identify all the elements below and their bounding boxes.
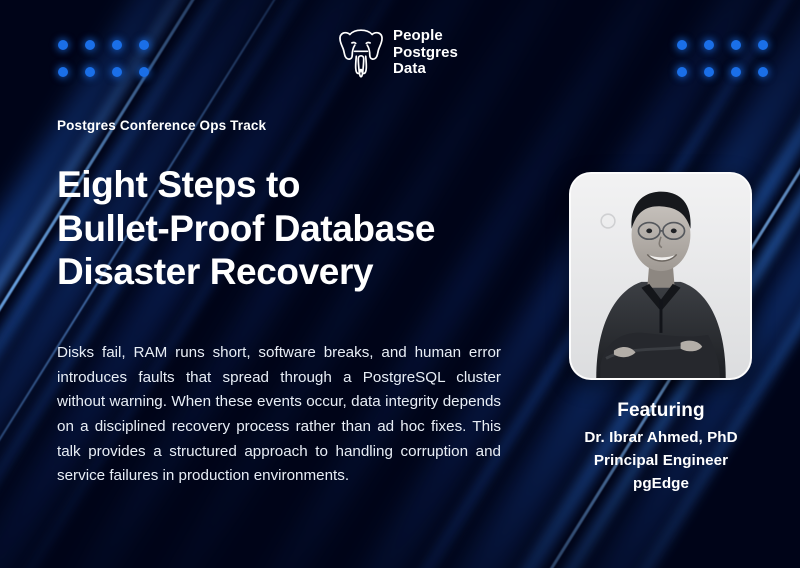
title-line-2: Bullet-Proof Database: [57, 207, 527, 251]
dot-icon: [758, 40, 768, 50]
brand-logo: People Postgres Data: [338, 26, 458, 80]
brand-line-2: Postgres: [393, 45, 458, 62]
dot-icon: [112, 40, 122, 50]
brand-logo-text: People Postgres Data: [393, 28, 458, 78]
dot-icon: [112, 67, 122, 77]
speaker-details: Featuring Dr. Ibrar Ahmed, PhD Principal…: [556, 400, 766, 495]
dot-grid-right: [677, 40, 768, 77]
dot-grid-left: [58, 40, 149, 77]
track-kicker: Postgres Conference Ops Track: [57, 118, 266, 133]
speaker-role: Principal Engineer: [556, 449, 766, 472]
title-line-3: Disaster Recovery: [57, 250, 527, 294]
dot-icon: [85, 40, 95, 50]
dot-icon: [139, 40, 149, 50]
dot-icon: [731, 40, 741, 50]
brand-line-1: People: [393, 28, 458, 45]
speaker-company: pgEdge: [556, 472, 766, 495]
featuring-label: Featuring: [556, 400, 766, 422]
dot-icon: [704, 40, 714, 50]
dot-icon: [758, 67, 768, 77]
session-abstract: Disks fail, RAM runs short, software bre…: [57, 341, 501, 489]
dot-icon: [58, 67, 68, 77]
dot-icon: [58, 40, 68, 50]
event-promo-card: People Postgres Data Postgres Conference…: [0, 0, 800, 568]
dot-icon: [85, 67, 95, 77]
speaker-portrait: [571, 174, 750, 378]
brand-line-3: Data: [393, 61, 458, 78]
speaker-name: Dr. Ibrar Ahmed, PhD: [556, 426, 766, 449]
dot-icon: [139, 67, 149, 77]
title-line-1: Eight Steps to: [57, 163, 527, 207]
page-title: Eight Steps to Bullet-Proof Database Dis…: [57, 163, 527, 294]
dot-icon: [677, 40, 687, 50]
dot-icon: [677, 67, 687, 77]
dot-icon: [704, 67, 714, 77]
speaker-photo-frame: [569, 172, 752, 380]
dot-icon: [731, 67, 741, 77]
elephant-icon: [338, 26, 384, 80]
